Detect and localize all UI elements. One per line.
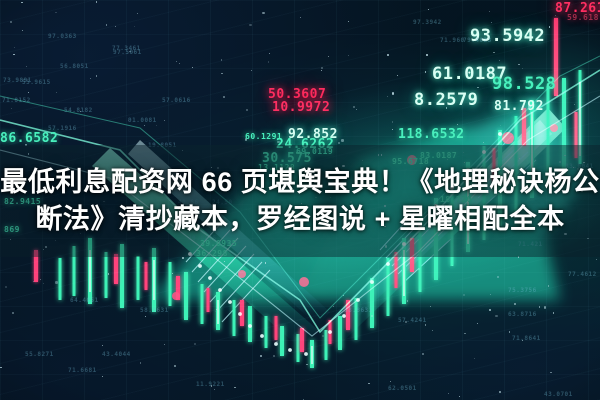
particle-speck xyxy=(144,125,145,126)
ticker-value: 86.6582 xyxy=(0,132,58,145)
particle-speck xyxy=(164,120,165,121)
ticker-value: 97.3942 xyxy=(413,20,442,26)
particle-speck xyxy=(428,9,429,10)
particle-speck xyxy=(262,12,264,14)
ticker-value: 62.0501 xyxy=(388,386,417,392)
particle-speck xyxy=(14,47,15,48)
headline-line-2: 断法》清抄藏本，罗经图说 + 星曜相配全本 xyxy=(35,203,564,236)
particle-speck xyxy=(277,141,279,143)
particle-speck xyxy=(500,125,501,126)
particle-speck xyxy=(214,389,215,390)
particle-speck xyxy=(172,273,173,274)
particle-speck xyxy=(328,56,329,57)
headline-text-block: 最低利息配资网 66 页堪舆宝典！《地理秘诀杨公 断法》清抄藏本，罗经图说 + … xyxy=(0,147,600,255)
particle-speck xyxy=(518,64,519,65)
particle-speck xyxy=(140,362,141,363)
particle-speck xyxy=(182,257,184,259)
particle-speck xyxy=(477,323,478,324)
particle-speck xyxy=(128,120,129,121)
particle-speck xyxy=(176,61,177,62)
particle-speck xyxy=(192,67,193,68)
particle-speck xyxy=(223,96,224,97)
particle-speck xyxy=(457,124,458,125)
ticker-value: 75.3756 xyxy=(508,288,537,294)
particle-speck xyxy=(425,324,426,325)
particle-speck xyxy=(426,54,427,55)
particle-speck xyxy=(348,21,349,22)
particle-speck xyxy=(477,87,478,88)
particle-speck xyxy=(0,367,1,368)
ticker-value: 50.3607 xyxy=(268,88,326,101)
particle-speck xyxy=(55,12,56,13)
particle-speck xyxy=(129,51,130,52)
particle-speck xyxy=(550,372,551,373)
ticker-value: 54.8182 xyxy=(64,108,93,114)
particle-speck xyxy=(452,265,453,266)
particle-speck xyxy=(25,144,27,146)
particle-speck xyxy=(21,2,22,3)
particle-speck xyxy=(497,276,499,278)
ticker-value: 87.2612 xyxy=(555,2,600,15)
particle-speck xyxy=(368,383,369,384)
particle-speck xyxy=(156,125,157,126)
ticker-value: 73.9891 xyxy=(3,78,32,84)
particle-speck xyxy=(321,70,322,71)
ticker-value: 97.5061 xyxy=(113,50,142,56)
particle-speck xyxy=(265,262,266,263)
particle-speck xyxy=(551,87,552,88)
particle-speck xyxy=(22,30,23,31)
particle-speck xyxy=(245,138,247,140)
particle-speck xyxy=(115,26,116,27)
particle-speck xyxy=(106,24,107,25)
particle-speck xyxy=(549,82,550,83)
particle-speck xyxy=(514,303,515,304)
particle-speck xyxy=(134,26,135,27)
particle-speck xyxy=(102,376,103,377)
particle-speck xyxy=(539,306,540,307)
particle-speck xyxy=(387,96,388,97)
particle-speck xyxy=(407,300,408,301)
particle-speck xyxy=(164,344,165,345)
particle-speck xyxy=(489,11,490,12)
particle-speck xyxy=(397,75,398,76)
ticker-value: 71.6681 xyxy=(68,368,97,374)
particle-speck xyxy=(11,108,12,109)
particle-speck xyxy=(137,13,138,14)
particle-speck xyxy=(490,294,491,295)
ticker-value: 92.852 xyxy=(288,128,338,141)
ticker-value: 118.6532 xyxy=(398,128,465,141)
particle-speck xyxy=(246,109,248,111)
particle-speck xyxy=(341,139,343,141)
particle-speck xyxy=(90,78,91,79)
particle-speck xyxy=(224,261,225,262)
particle-speck xyxy=(10,21,12,23)
particle-speck xyxy=(145,316,146,317)
ticker-value: 10.9972 xyxy=(272,101,330,114)
particle-speck xyxy=(371,315,373,317)
ticker-value: 64.4051 xyxy=(70,298,99,304)
ticker-value: 58.0631 xyxy=(140,308,169,314)
particle-speck xyxy=(96,1,97,2)
particle-speck xyxy=(459,396,460,397)
particle-speck xyxy=(80,111,81,112)
background-image-canvas: 93.594261.018798.5288.257981.79250.36071… xyxy=(0,0,600,400)
particle-speck xyxy=(348,55,349,56)
ticker-value: 77.3461 xyxy=(112,46,141,52)
particle-speck xyxy=(211,385,212,386)
particle-speck xyxy=(479,78,481,80)
particle-speck xyxy=(174,365,176,367)
ticker-value: 55.8271 xyxy=(25,352,54,358)
particle-speck xyxy=(353,106,355,108)
particle-speck xyxy=(343,295,344,296)
ticker-value: 57.1916 xyxy=(48,126,77,132)
ticker-value: 61.0187 xyxy=(432,66,507,83)
particle-speck xyxy=(549,26,550,27)
particle-speck xyxy=(544,306,546,308)
particle-speck xyxy=(483,142,484,143)
particle-speck xyxy=(33,281,34,282)
particle-speck xyxy=(321,67,323,69)
ticker-value: 71.8641 xyxy=(512,336,541,342)
particle-speck xyxy=(499,60,500,61)
particle-speck xyxy=(322,335,324,337)
particle-speck xyxy=(12,312,14,314)
ticker-value: 56.8051 xyxy=(60,64,89,70)
particle-speck xyxy=(509,331,510,332)
particle-speck xyxy=(392,92,394,94)
ticker-value: 79.4023 xyxy=(463,38,492,44)
ticker-value: 43.0701 xyxy=(544,392,573,398)
ticker-value: 55.9615 xyxy=(22,80,51,86)
ticker-value: 97.0363 xyxy=(48,34,77,40)
particle-speck xyxy=(55,281,57,283)
particle-speck xyxy=(333,306,334,307)
particle-speck xyxy=(432,330,433,331)
particle-speck xyxy=(448,393,449,394)
particle-speck xyxy=(249,24,251,26)
particle-speck xyxy=(13,54,14,55)
ticker-value: 63.8716 xyxy=(508,312,537,318)
ticker-value: 57.0616 xyxy=(162,98,191,104)
particle-speck xyxy=(555,15,556,16)
particle-speck xyxy=(528,105,530,107)
ticker-value: 81.792 xyxy=(494,100,544,113)
particle-speck xyxy=(338,142,340,144)
particle-speck xyxy=(518,256,519,257)
particle-speck xyxy=(522,340,523,341)
ticker-value: 11.9221 xyxy=(196,382,225,388)
ticker-value: 93.5942 xyxy=(470,28,545,45)
particle-speck xyxy=(405,321,407,323)
particle-speck xyxy=(387,54,388,55)
particle-speck xyxy=(269,53,270,54)
particle-speck xyxy=(260,355,262,357)
ticker-value: 8.2579 xyxy=(414,92,478,109)
particle-speck xyxy=(418,268,420,270)
ticker-value: 43.4044 xyxy=(102,352,131,358)
ticker-value: 91.0081 xyxy=(128,118,157,124)
particle-speck xyxy=(221,59,222,60)
particle-speck xyxy=(446,107,447,108)
particle-speck xyxy=(276,341,278,343)
particle-speck xyxy=(489,309,490,310)
particle-speck xyxy=(310,110,311,111)
particle-speck xyxy=(596,259,597,260)
particle-speck xyxy=(273,355,274,356)
headline-line-1: 最低利息配资网 66 页堪舆宝典！《地理秘诀杨公 xyxy=(0,166,599,199)
particle-speck xyxy=(493,52,494,53)
particle-speck xyxy=(522,68,523,69)
particle-speck xyxy=(221,73,222,74)
particle-speck xyxy=(474,358,475,359)
particle-speck xyxy=(234,387,235,388)
particle-speck xyxy=(430,306,431,307)
particle-speck xyxy=(425,71,426,72)
ticker-value: 59.618 xyxy=(567,14,599,22)
ticker-value: 98.528 xyxy=(492,76,556,93)
particle-speck xyxy=(179,63,180,64)
ticker-value: 77.4612 xyxy=(568,272,597,278)
particle-speck xyxy=(548,285,549,286)
particle-speck xyxy=(56,92,57,93)
ticker-value: 57.4241 xyxy=(398,318,427,324)
particle-speck xyxy=(356,109,357,110)
particle-speck xyxy=(390,381,391,382)
particle-speck xyxy=(108,273,109,274)
particle-speck xyxy=(491,22,492,23)
particle-speck xyxy=(463,294,465,296)
particle-speck xyxy=(392,121,393,122)
particle-speck xyxy=(464,333,465,334)
particle-speck xyxy=(306,364,307,365)
ticker-value: 71.960 xyxy=(440,38,465,44)
particle-speck xyxy=(216,309,217,310)
ticker-value: 58.8631 xyxy=(344,308,373,314)
particle-speck xyxy=(43,283,44,284)
particle-speck xyxy=(96,75,97,76)
particle-speck xyxy=(574,104,575,105)
particle-speck xyxy=(422,353,423,354)
particle-speck xyxy=(300,17,301,18)
particle-speck xyxy=(5,286,7,288)
particle-speck xyxy=(194,343,196,345)
particle-speck xyxy=(251,70,252,71)
particle-speck xyxy=(102,345,103,346)
ticker-value: 71.8152 xyxy=(2,98,31,104)
particle-speck xyxy=(392,129,393,130)
particle-speck xyxy=(268,61,269,62)
particle-speck xyxy=(40,279,41,280)
particle-speck xyxy=(553,312,554,313)
particle-speck xyxy=(499,391,501,393)
particle-speck xyxy=(495,315,497,317)
particle-speck xyxy=(28,92,29,93)
particle-speck xyxy=(26,66,27,67)
ticker-value: 60.1291 xyxy=(245,133,282,141)
